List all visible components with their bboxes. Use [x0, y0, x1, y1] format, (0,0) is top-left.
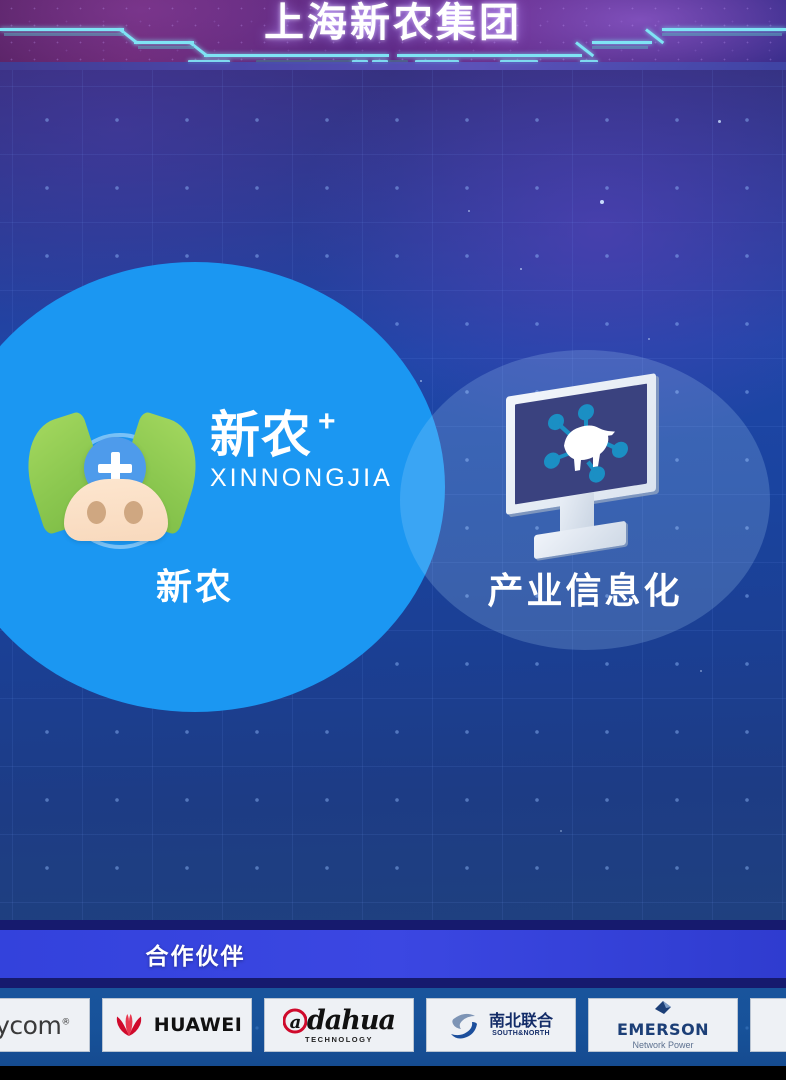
southnorth-subtext: SOUTH&NORTH — [489, 1030, 553, 1037]
polycom-text: Polycom — [0, 1011, 61, 1040]
xinnong-logo-group: 新农+ XINNONGJIA — [14, 398, 404, 543]
partner-logo-huawei[interactable]: HUAWEI — [102, 998, 252, 1052]
monitor-pig-network-icon — [498, 385, 678, 565]
nostril-left — [87, 501, 106, 524]
partner-logo-list: Polycom® HUAWEI — [0, 998, 786, 1052]
partner-logo-polycom[interactable]: Polycom® — [0, 998, 90, 1052]
wordmark-en: XINNONGJIA — [210, 464, 410, 493]
emerson-subtext: Network Power — [617, 1040, 709, 1050]
dahua-subtext: TECHNOLOGY — [283, 1036, 395, 1044]
partner-logo-dahua[interactable]: a dahua TECHNOLOGY — [264, 998, 414, 1052]
dashboard-page: 上海新农集团 — [0, 0, 786, 1080]
dahua-a-icon: a — [283, 1008, 307, 1034]
partner-logo-globe[interactable] — [750, 998, 786, 1052]
partners-section-bar: 合作伙伴 — [0, 920, 786, 988]
dahua-text: dahua — [307, 1005, 395, 1036]
swoosh-icon — [449, 1008, 483, 1042]
huawei-flower-icon — [112, 1012, 146, 1038]
nostril-right — [124, 501, 143, 524]
wordmark-superscript: + — [318, 410, 336, 434]
emerson-text: EMERSON — [617, 1021, 709, 1039]
partners-bar-top-edge — [0, 920, 786, 930]
huawei-text: HUAWEI — [154, 1014, 243, 1036]
pig-plus-leaf-logo-icon — [14, 403, 214, 543]
partner-logo-strip: Polycom® HUAWEI — [0, 988, 786, 1066]
emerson-diamond-icon — [652, 1000, 674, 1016]
svg-text:a: a — [290, 1012, 301, 1033]
xinnong-wordmark: 新农+ XINNONGJIA — [210, 410, 410, 493]
wordmark-cn: 新农 — [210, 410, 312, 460]
partners-bar: 合作伙伴 — [0, 930, 786, 978]
southnorth-text: 南北联合 — [489, 1013, 553, 1030]
page-header: 上海新农集团 — [0, 0, 786, 70]
partner-logo-southnorth[interactable]: 南北联合 SOUTH&NORTH — [426, 998, 576, 1052]
page-title: 上海新农集团 — [0, 0, 786, 48]
bubble-label-industry: 产业信息化 — [400, 562, 770, 614]
bubble-label-xinnong: 新农 — [0, 558, 390, 610]
partners-bar-bottom-edge — [0, 978, 786, 988]
bottom-letterbox — [0, 1066, 786, 1080]
partners-title: 合作伙伴 — [0, 937, 786, 971]
header-bottom-edge — [0, 62, 786, 70]
partner-logo-emerson[interactable]: EMERSON Network Power — [588, 998, 738, 1052]
